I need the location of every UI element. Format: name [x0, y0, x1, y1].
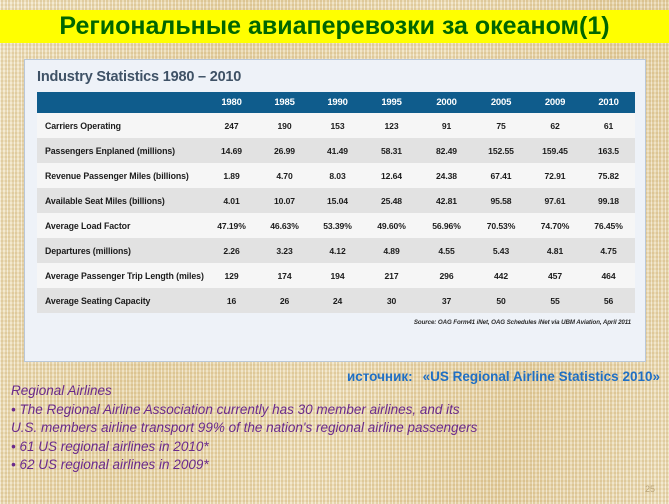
table-row: Passengers Enplaned (millions) 14.69 26.… [37, 138, 635, 163]
cell: 47.19% [205, 213, 258, 238]
cell: 4.01 [205, 188, 258, 213]
cell: 62 [528, 113, 582, 138]
cell: 123 [364, 113, 419, 138]
cell: 30 [364, 288, 419, 313]
cell: 24 [311, 288, 364, 313]
cell: 3.23 [258, 238, 311, 263]
cell: 61 [582, 113, 635, 138]
cell: 58.31 [364, 138, 419, 163]
table-header: 1980 1985 1990 1995 2000 2005 2009 2010 [37, 92, 635, 113]
cell: 75.82 [582, 163, 635, 188]
column-header-year: 2000 [419, 92, 474, 113]
notes-block: Regional Airlines • The Regional Airline… [11, 382, 661, 475]
cell: 25.48 [364, 188, 419, 213]
cell: 4.55 [419, 238, 474, 263]
cell: 1.89 [205, 163, 258, 188]
note-line: Regional Airlines [11, 382, 661, 401]
table-row: Average Passenger Trip Length (miles) 12… [37, 263, 635, 288]
cell: 217 [364, 263, 419, 288]
cell: 14.69 [205, 138, 258, 163]
cell: 50 [474, 288, 528, 313]
cell: 10.07 [258, 188, 311, 213]
table-header-row: 1980 1985 1990 1995 2000 2005 2009 2010 [37, 92, 635, 113]
cell: 153 [311, 113, 364, 138]
cell: 4.81 [528, 238, 582, 263]
cell: 72.91 [528, 163, 582, 188]
cell: 67.41 [474, 163, 528, 188]
page-number: 25 [645, 484, 655, 494]
cell: 129 [205, 263, 258, 288]
industry-statistics-card: Industry Statistics 1980 – 2010 1980 198… [24, 59, 646, 362]
cell: 49.60% [364, 213, 419, 238]
column-header-year: 2005 [474, 92, 528, 113]
note-line: U.S. members airline transport 99% of th… [11, 419, 661, 438]
cell: 24.38 [419, 163, 474, 188]
cell: 4.75 [582, 238, 635, 263]
cell: 442 [474, 263, 528, 288]
cell: 76.45% [582, 213, 635, 238]
cell: 82.49 [419, 138, 474, 163]
cell: 70.53% [474, 213, 528, 238]
row-label: Passengers Enplaned (millions) [37, 138, 205, 163]
cell: 15.04 [311, 188, 364, 213]
cell: 4.70 [258, 163, 311, 188]
page-title: Региональные авиаперевозки за океаном(1) [59, 14, 609, 39]
cell: 95.58 [474, 188, 528, 213]
cell: 5.43 [474, 238, 528, 263]
cell: 159.45 [528, 138, 582, 163]
column-header-year: 1980 [205, 92, 258, 113]
cell: 12.64 [364, 163, 419, 188]
table-row: Average Seating Capacity 16 26 24 30 37 … [37, 288, 635, 313]
cell: 75 [474, 113, 528, 138]
table-row: Revenue Passenger Miles (billions) 1.89 … [37, 163, 635, 188]
cell: 4.89 [364, 238, 419, 263]
table-source-note: Source: OAG Form41 iNet, OAG Schedules i… [25, 313, 645, 326]
row-label: Departures (millions) [37, 238, 205, 263]
cell: 56.96% [419, 213, 474, 238]
cell: 53.39% [311, 213, 364, 238]
table-row: Departures (millions) 2.26 3.23 4.12 4.8… [37, 238, 635, 263]
cell: 56 [582, 288, 635, 313]
cell: 190 [258, 113, 311, 138]
cell: 91 [419, 113, 474, 138]
slide-title-banner: Региональные авиаперевозки за океаном(1) [0, 10, 669, 43]
column-header-year: 1990 [311, 92, 364, 113]
cell: 296 [419, 263, 474, 288]
cell: 4.12 [311, 238, 364, 263]
cell: 46.63% [258, 213, 311, 238]
cell: 8.03 [311, 163, 364, 188]
column-header-year: 2010 [582, 92, 635, 113]
cell: 42.81 [419, 188, 474, 213]
table-row: Average Load Factor 47.19% 46.63% 53.39%… [37, 213, 635, 238]
column-header-metric [37, 92, 205, 113]
note-line: • 61 US regional airlines in 2010* [11, 438, 661, 457]
note-line: • The Regional Airline Association curre… [11, 401, 661, 420]
column-header-year: 2009 [528, 92, 582, 113]
row-label: Available Seat Miles (billions) [37, 188, 205, 213]
cell: 99.18 [582, 188, 635, 213]
slide-canvas: Региональные авиаперевозки за океаном(1)… [0, 0, 669, 504]
cell: 74.70% [528, 213, 582, 238]
cell: 97.61 [528, 188, 582, 213]
column-header-year: 1995 [364, 92, 419, 113]
cell: 247 [205, 113, 258, 138]
cell: 163.5 [582, 138, 635, 163]
note-line: • 62 US regional airlines in 2009* [11, 456, 661, 475]
row-label: Carriers Operating [37, 113, 205, 138]
cell: 37 [419, 288, 474, 313]
cell: 26 [258, 288, 311, 313]
cell: 194 [311, 263, 364, 288]
cell: 2.26 [205, 238, 258, 263]
card-title: Industry Statistics 1980 – 2010 [25, 60, 645, 85]
row-label: Average Seating Capacity [37, 288, 205, 313]
column-header-year: 1985 [258, 92, 311, 113]
row-label: Average Passenger Trip Length (miles) [37, 263, 205, 288]
cell: 457 [528, 263, 582, 288]
cell: 41.49 [311, 138, 364, 163]
cell: 152.55 [474, 138, 528, 163]
table-row: Carriers Operating 247 190 153 123 91 75… [37, 113, 635, 138]
cell: 174 [258, 263, 311, 288]
row-label: Revenue Passenger Miles (billions) [37, 163, 205, 188]
table-row: Available Seat Miles (billions) 4.01 10.… [37, 188, 635, 213]
row-label: Average Load Factor [37, 213, 205, 238]
industry-statistics-table: 1980 1985 1990 1995 2000 2005 2009 2010 … [37, 92, 635, 313]
cell: 16 [205, 288, 258, 313]
cell: 55 [528, 288, 582, 313]
cell: 464 [582, 263, 635, 288]
cell: 26.99 [258, 138, 311, 163]
table-body: Carriers Operating 247 190 153 123 91 75… [37, 113, 635, 313]
